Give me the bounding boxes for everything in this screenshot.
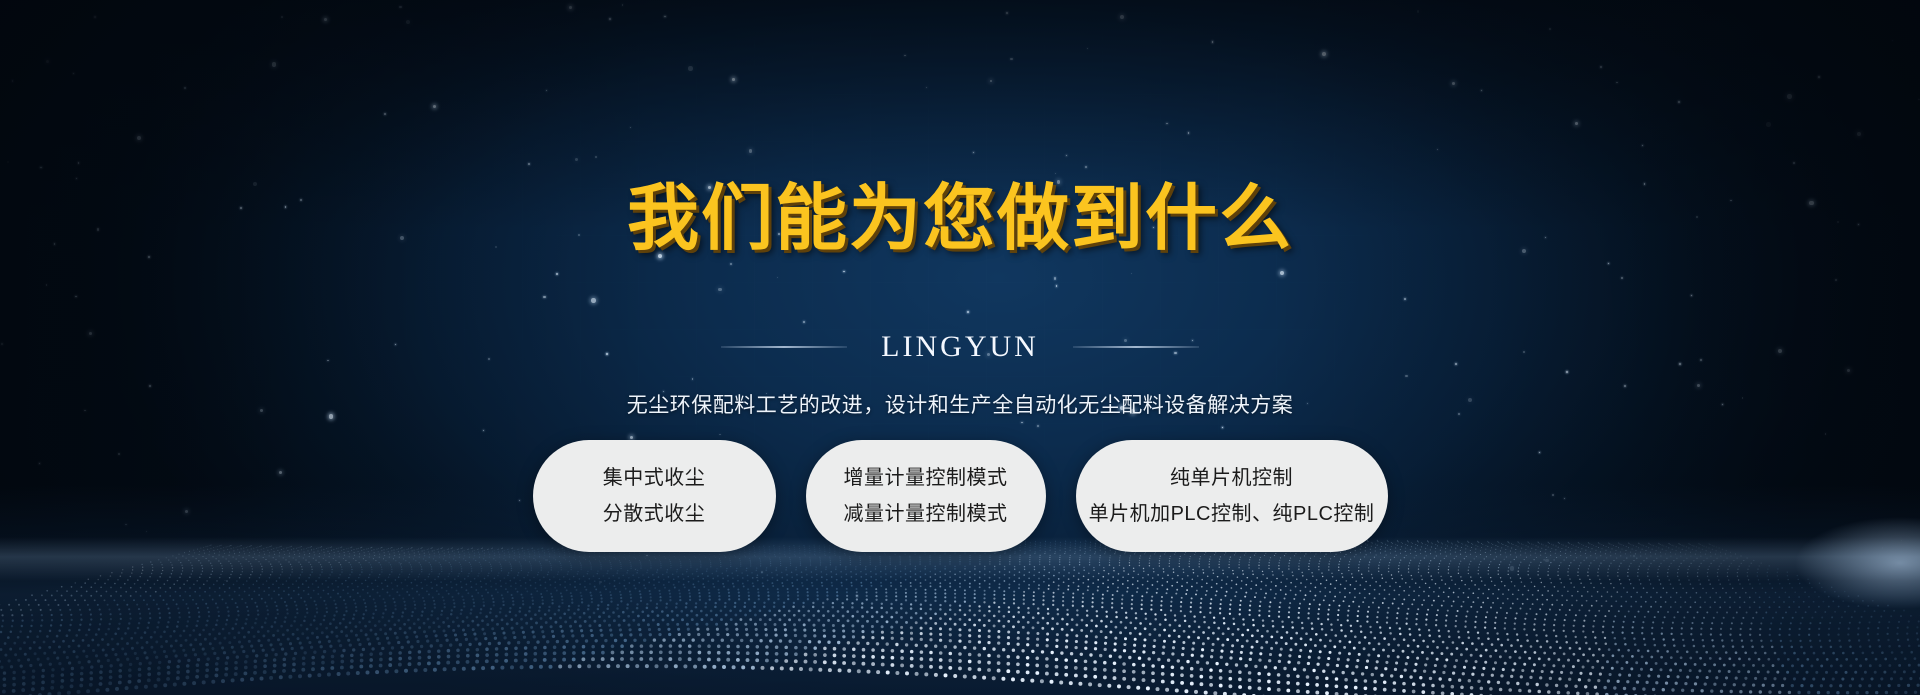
brand-row: LINGYUN xyxy=(0,328,1920,366)
banner-content: 我们能为您做到什么 LINGYUN 无尘环保配料工艺的改进，设计和生产全自动化无… xyxy=(0,0,1920,695)
card-line-secondary: 分散式收尘 xyxy=(603,503,706,525)
divider-line-left xyxy=(721,346,847,348)
card-line-secondary: 减量计量控制模式 xyxy=(844,503,1008,525)
feature-card-control-system[interactable]: 纯单片机控制 单片机加PLC控制、纯PLC控制 xyxy=(1076,440,1388,552)
feature-card-dust-collection[interactable]: 集中式收尘 分散式收尘 xyxy=(533,440,776,552)
brand-name: LINGYUN xyxy=(847,328,1073,366)
hero-banner: 我们能为您做到什么 LINGYUN 无尘环保配料工艺的改进，设计和生产全自动化无… xyxy=(0,0,1920,695)
card-line-primary: 增量计量控制模式 xyxy=(844,467,1008,489)
page-title: 我们能为您做到什么 xyxy=(0,182,1920,254)
card-line-primary: 集中式收尘 xyxy=(603,467,706,489)
card-line-primary: 纯单片机控制 xyxy=(1170,467,1293,489)
divider-line-right xyxy=(1073,346,1199,348)
banner-description: 无尘环保配料工艺的改进，设计和生产全自动化无尘配料设备解决方案 xyxy=(0,389,1920,419)
feature-card-metering-mode[interactable]: 增量计量控制模式 减量计量控制模式 xyxy=(806,440,1046,552)
card-line-secondary: 单片机加PLC控制、纯PLC控制 xyxy=(1089,503,1375,525)
feature-card-list: 集中式收尘 分散式收尘 增量计量控制模式 减量计量控制模式 纯单片机控制 单片机… xyxy=(0,440,1920,552)
